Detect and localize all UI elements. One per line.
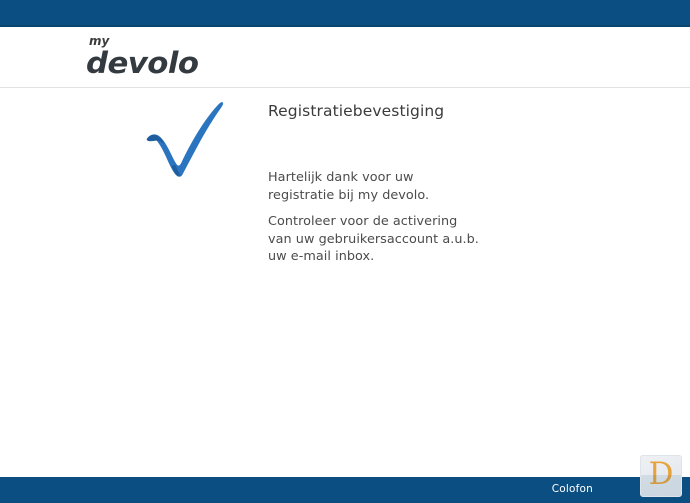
page-footer: Colofon xyxy=(0,477,690,503)
message-column: Registratiebevestiging Hartelijk dank vo… xyxy=(268,101,598,266)
colofon-link[interactable]: Colofon xyxy=(552,483,593,495)
page-header: my devolo xyxy=(0,27,690,88)
main-content: Registratiebevestiging Hartelijk dank vo… xyxy=(0,89,690,477)
page-title: Registratiebevestiging xyxy=(268,101,598,121)
top-brand-bar xyxy=(0,0,690,27)
checkmark-icon xyxy=(142,98,234,178)
my-devolo-logo[interactable]: my devolo xyxy=(86,35,192,78)
devolo-corner-badge[interactable]: D xyxy=(640,455,682,497)
badge-letter-d: D xyxy=(649,459,674,490)
activation-paragraph: Controleer voor de activering van uw geb… xyxy=(268,213,598,266)
logo-wordmark-devolo: devolo xyxy=(86,48,198,78)
thanks-paragraph: Hartelijk dank voor uw registratie bij m… xyxy=(268,169,598,204)
